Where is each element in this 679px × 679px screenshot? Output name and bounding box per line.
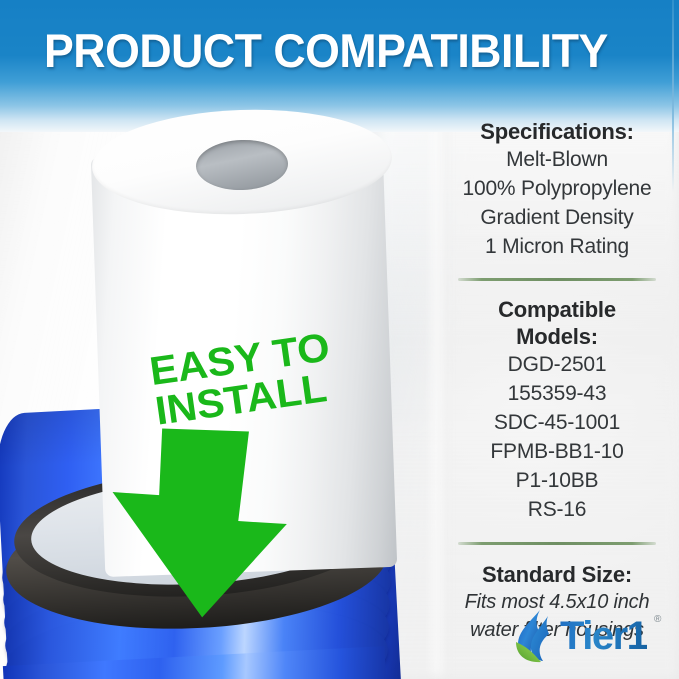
specification-line: 1 Micron Rating — [438, 232, 676, 261]
specifications-section: Specifications: Melt-Blown 100% Polyprop… — [438, 118, 676, 261]
tier1-wordmark: Tier1 — [560, 614, 647, 658]
compatible-models-section: Compatible Models: DGD-2501 155359-43 SD… — [438, 296, 676, 524]
specs-panel: Specifications: Melt-Blown 100% Polyprop… — [438, 118, 676, 678]
model-number: FPMB-BB1-10 — [438, 437, 676, 466]
compatible-models-heading-line-1: Compatible — [438, 296, 676, 323]
specifications-heading: Specifications: — [438, 118, 676, 145]
product-illustration: EASY TO INSTALL — [0, 104, 440, 679]
product-compatibility-infographic: PRODUCT COMPATIBILITY EASY TO INSTALL — [0, 0, 679, 679]
registered-trademark-icon: ® — [654, 614, 661, 625]
down-arrow-icon — [100, 410, 320, 630]
model-number: RS-16 — [438, 495, 676, 524]
model-number: SDC-45-1001 — [438, 408, 676, 437]
standard-size-heading: Standard Size: — [438, 561, 676, 588]
specification-line: 100% Polypropylene — [438, 174, 676, 203]
compatible-models-heading-line-2: Models: — [438, 323, 676, 350]
water-drop-leaf-icon — [508, 608, 564, 664]
model-number: DGD-2501 — [438, 350, 676, 379]
tier1-logo: Tier1 ® — [508, 608, 668, 664]
specification-line: Melt-Blown — [438, 145, 676, 174]
model-number: 155359-43 — [438, 379, 676, 408]
model-number: P1-10BB — [438, 466, 676, 495]
page-title: PRODUCT COMPATIBILITY — [44, 26, 614, 76]
specification-line: Gradient Density — [438, 203, 676, 232]
